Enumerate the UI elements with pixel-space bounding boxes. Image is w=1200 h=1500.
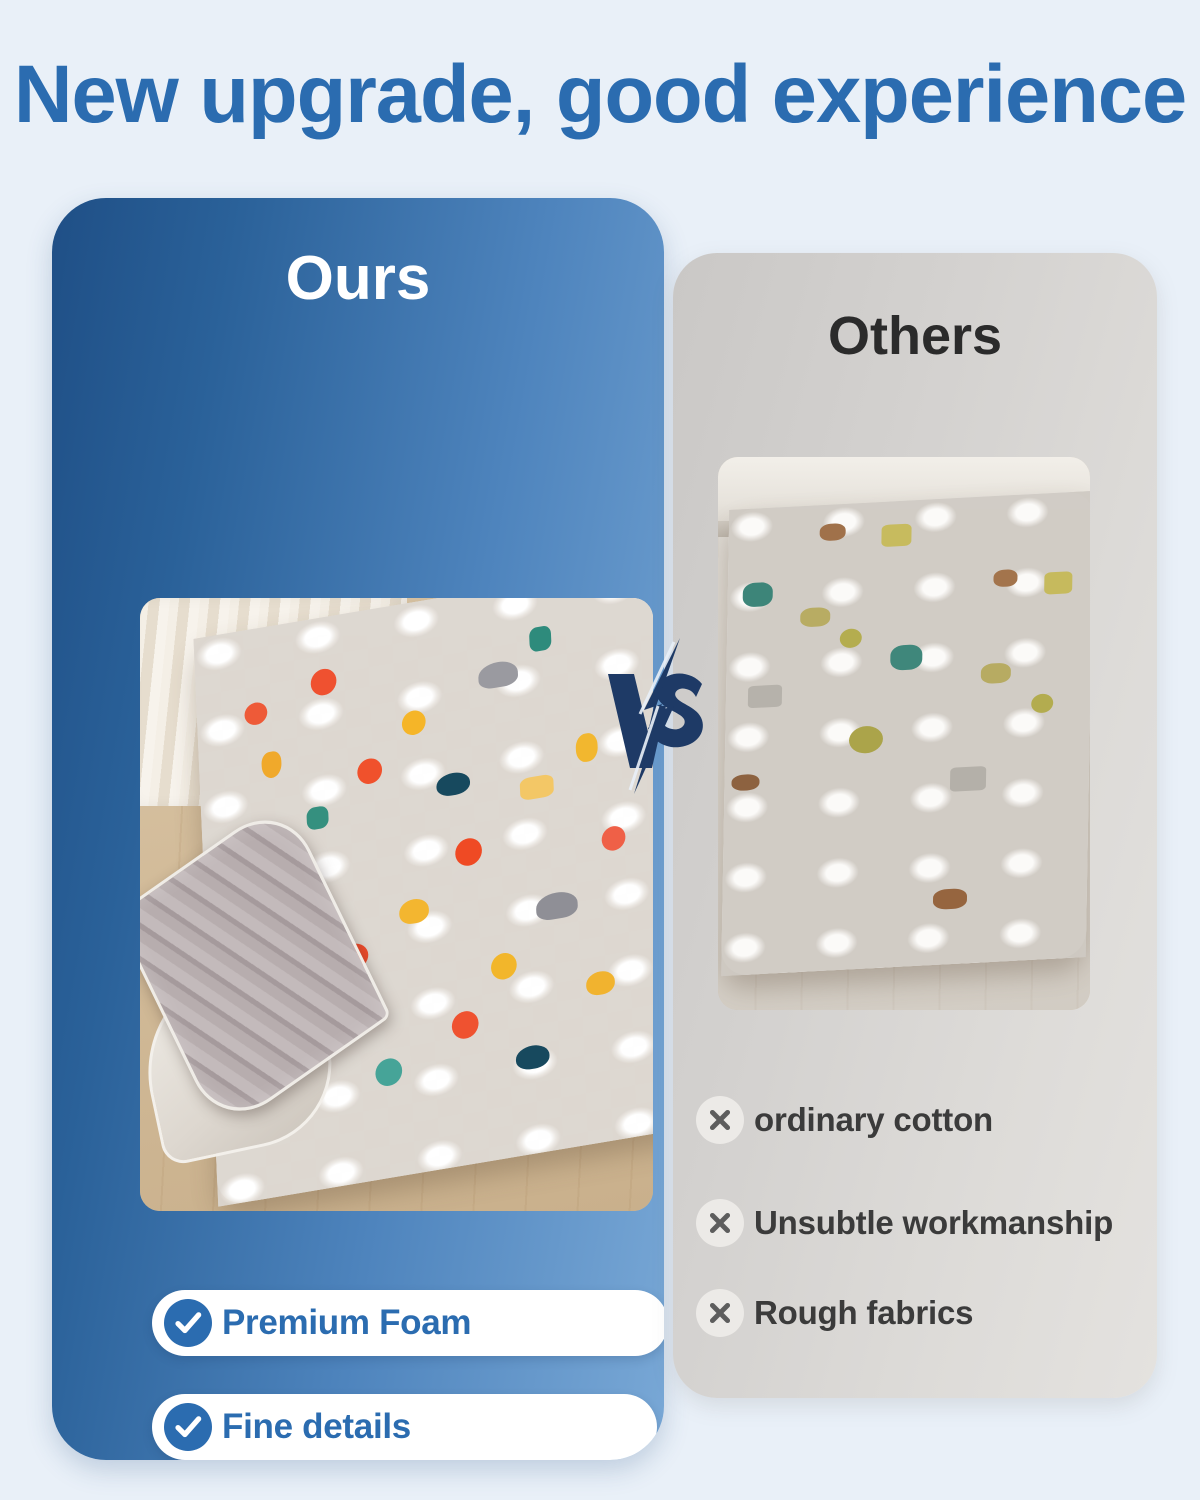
page-title: New upgrade, good experience <box>6 48 1194 142</box>
others-mat <box>722 491 1090 976</box>
motif-house-olive-2 <box>1045 571 1073 595</box>
motif-tent-grey-2 <box>950 767 986 793</box>
others-heading: Others <box>673 305 1157 367</box>
others-product-photo <box>718 457 1090 1010</box>
motif-cactus-teal <box>529 624 552 652</box>
infographic-page: New upgrade, good experience <box>0 0 1200 1500</box>
ours-product-photo <box>140 598 653 1211</box>
others-panel: ordinary cotton Unsubtle workmanship Rou… <box>673 253 1157 1398</box>
others-drawback-label: Unsubtle workmanship <box>754 1204 1113 1242</box>
x-icon <box>696 1289 744 1337</box>
ours-feature-premium-foam[interactable]: Premium Foam <box>152 1290 664 1356</box>
others-drawback-unsubtle-workmanship[interactable]: Unsubtle workmanship <box>696 1196 1113 1250</box>
motif-house-olive <box>882 524 912 548</box>
check-icon <box>164 1403 212 1451</box>
ours-heading: Ours <box>52 243 664 314</box>
others-drawback-rough-fabrics[interactable]: Rough fabrics <box>696 1286 973 1340</box>
others-quilt-texture <box>722 491 1090 976</box>
vs-badge <box>604 636 712 796</box>
x-icon <box>696 1199 744 1247</box>
x-icon <box>696 1096 744 1144</box>
ours-panel: Premium Foam Fine details soft microfibe… <box>52 198 664 1460</box>
check-icon <box>164 1299 212 1347</box>
others-drawback-label: Rough fabrics <box>754 1294 973 1332</box>
ours-feature-label: Premium Foam <box>222 1303 471 1343</box>
ours-feature-fine-details[interactable]: Fine details <box>152 1394 657 1460</box>
others-drawback-ordinary-cotton[interactable]: ordinary cotton <box>696 1093 993 1147</box>
others-drawback-label: ordinary cotton <box>754 1101 993 1139</box>
ours-feature-label: Fine details <box>222 1407 411 1447</box>
motif-tent-grey <box>748 684 782 708</box>
motif-cactus-green <box>305 805 328 831</box>
